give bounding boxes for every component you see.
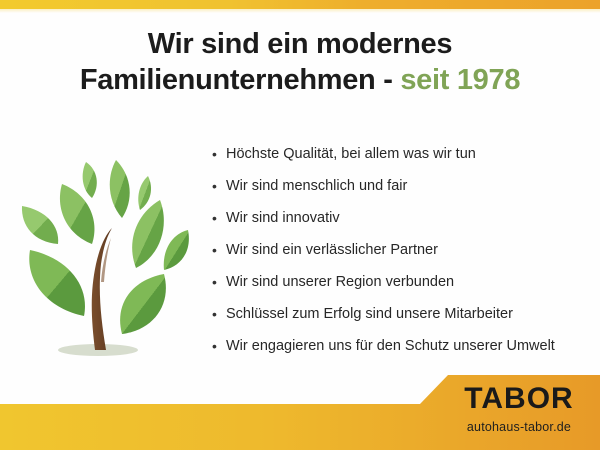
headline-accent-seit-1978: seit 1978 <box>400 64 520 96</box>
top-accent-bar <box>0 0 600 9</box>
headline-line-1: Wir sind ein modernes <box>0 26 600 62</box>
list-item: • Wir sind innovativ <box>212 208 592 240</box>
tree-leaves <box>22 160 189 334</box>
slide-canvas: Wir sind ein modernes Familienunternehme… <box>0 0 600 450</box>
list-item: • Wir sind unserer Region verbunden <box>212 272 592 304</box>
bullet-marker-icon: • <box>212 336 226 356</box>
list-item: • Wir engagieren uns für den Schutz unse… <box>212 336 592 368</box>
tree-illustration <box>12 132 192 364</box>
brand-tagline: autohaus-tabor.de <box>446 419 592 435</box>
list-item-label: Wir sind ein verlässlicher Partner <box>226 240 438 260</box>
list-item-label: Schlüssel zum Erfolg sind unsere Mitarbe… <box>226 304 513 324</box>
bullet-marker-icon: • <box>212 176 226 196</box>
bullet-marker-icon: • <box>212 240 226 260</box>
bullet-marker-icon: • <box>212 272 226 292</box>
list-item: • Wir sind menschlich und fair <box>212 176 592 208</box>
list-item: • Höchste Qualität, bei allem was wir tu… <box>212 144 592 176</box>
headline-line-2-prefix: Familienunternehmen - <box>80 64 401 96</box>
list-item-label: Wir sind menschlich und fair <box>226 176 407 196</box>
bullet-marker-icon: • <box>212 208 226 228</box>
page-title: Wir sind ein modernes Familienunternehme… <box>0 26 600 98</box>
list-item: • Wir sind ein verlässlicher Partner <box>212 240 592 272</box>
bullet-list: • Höchste Qualität, bei allem was wir tu… <box>212 144 592 368</box>
bullet-marker-icon: • <box>212 304 226 324</box>
top-accent-bar-fade <box>0 9 600 13</box>
list-item: • Schlüssel zum Erfolg sind unsere Mitar… <box>212 304 592 336</box>
headline-line-2: Familienunternehmen - seit 1978 <box>0 62 600 98</box>
bullet-marker-icon: • <box>212 144 226 164</box>
list-item-label: Wir sind innovativ <box>226 208 340 228</box>
list-item-label: Höchste Qualität, bei allem was wir tun <box>226 144 476 164</box>
list-item-label: Wir sind unserer Region verbunden <box>226 272 454 292</box>
brand-wordmark: TABOR <box>446 383 592 415</box>
list-item-label: Wir engagieren uns für den Schutz unsere… <box>226 336 555 356</box>
